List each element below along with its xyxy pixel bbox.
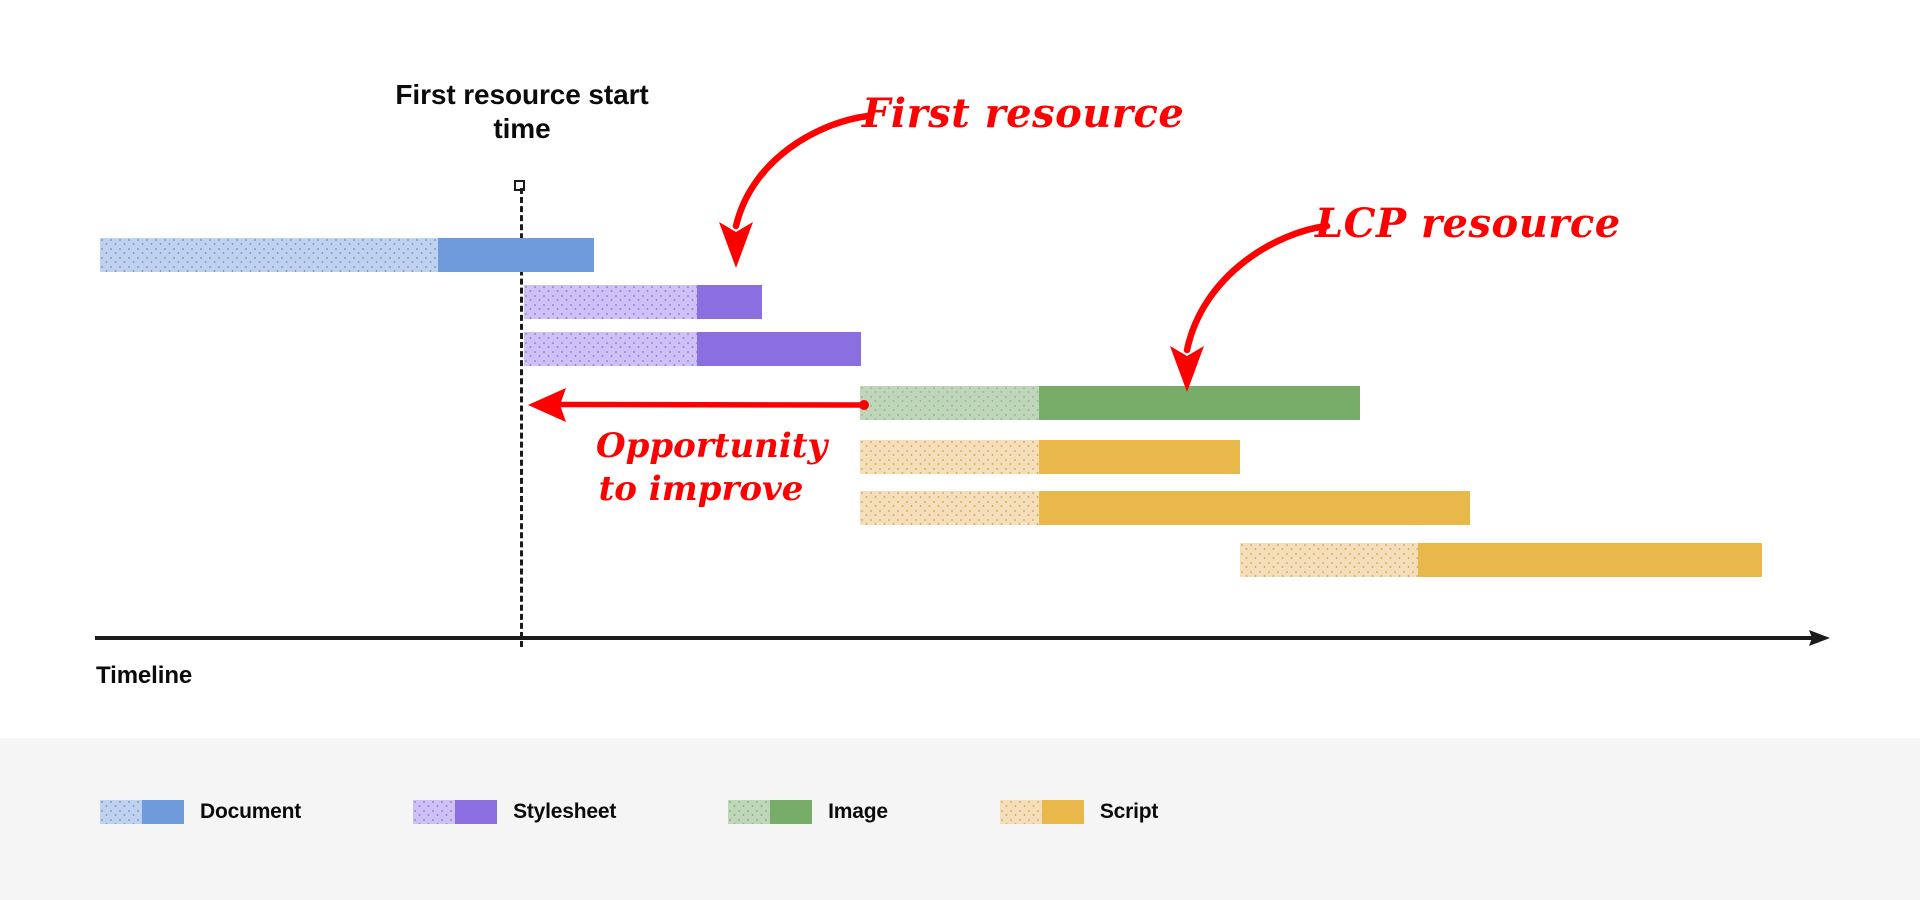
resource-bar-image-3 xyxy=(860,386,1360,420)
legend-items: DocumentStylesheetImageScript xyxy=(100,800,1270,824)
legend-item-stylesheet[interactable]: Stylesheet xyxy=(413,800,616,824)
bar-segment-wait xyxy=(100,238,438,272)
resource-bar-script-5 xyxy=(860,491,1470,525)
bar-segment-wait xyxy=(524,285,697,319)
bar-segment-load xyxy=(1418,543,1762,577)
legend-item-document[interactable]: Document xyxy=(100,800,301,824)
timeline-axis-label: Timeline xyxy=(96,662,192,690)
bar-segment-wait xyxy=(860,386,1039,420)
timeline-axis xyxy=(95,630,1830,652)
waterfall-chart: First resource start time First resource… xyxy=(0,0,1920,738)
legend-swatch-wait xyxy=(413,800,455,824)
legend-item-script[interactable]: Script xyxy=(1000,800,1158,824)
legend-label: Image xyxy=(828,800,888,824)
opportunity-arrow-icon xyxy=(520,388,870,422)
first-resource-start-time-label: First resource start time xyxy=(390,78,654,146)
resource-bar-script-4 xyxy=(860,440,1240,474)
annotation-lcp-resource: LCP resource xyxy=(1315,200,1621,247)
legend-swatch-wait xyxy=(100,800,142,824)
legend-swatch-image xyxy=(728,800,812,824)
legend-swatch-load xyxy=(1042,800,1084,824)
legend-bar: DocumentStylesheetImageScript xyxy=(0,738,1920,900)
bar-segment-wait xyxy=(1240,543,1418,577)
resource-bar-stylesheet-1 xyxy=(524,285,762,319)
bar-segment-load xyxy=(1039,386,1360,420)
legend-item-image[interactable]: Image xyxy=(728,800,888,824)
bar-segment-load xyxy=(438,238,594,272)
legend-swatch-document xyxy=(100,800,184,824)
bar-segment-load xyxy=(1039,491,1470,525)
legend-swatch-script xyxy=(1000,800,1084,824)
bar-segment-load xyxy=(697,332,861,366)
legend-swatch-stylesheet xyxy=(413,800,497,824)
resource-bar-stylesheet-2 xyxy=(524,332,861,366)
annotation-opportunity-to-improve: Opportunity to improve xyxy=(596,425,806,510)
legend-swatch-load xyxy=(455,800,497,824)
legend-label: Document xyxy=(200,800,301,824)
resource-bar-script-6 xyxy=(1240,543,1762,577)
legend-swatch-wait xyxy=(728,800,770,824)
bar-segment-wait xyxy=(524,332,697,366)
bar-segment-wait xyxy=(860,440,1039,474)
bar-segment-wait xyxy=(860,491,1039,525)
resource-bar-document-0 xyxy=(100,238,594,272)
legend-swatch-load xyxy=(142,800,184,824)
bar-segment-load xyxy=(1039,440,1240,474)
legend-swatch-load xyxy=(770,800,812,824)
bar-segment-load xyxy=(697,285,762,319)
legend-label: Script xyxy=(1100,800,1158,824)
legend-swatch-wait xyxy=(1000,800,1042,824)
annotation-first-resource: First resource xyxy=(862,90,1184,137)
legend-label: Stylesheet xyxy=(513,800,616,824)
